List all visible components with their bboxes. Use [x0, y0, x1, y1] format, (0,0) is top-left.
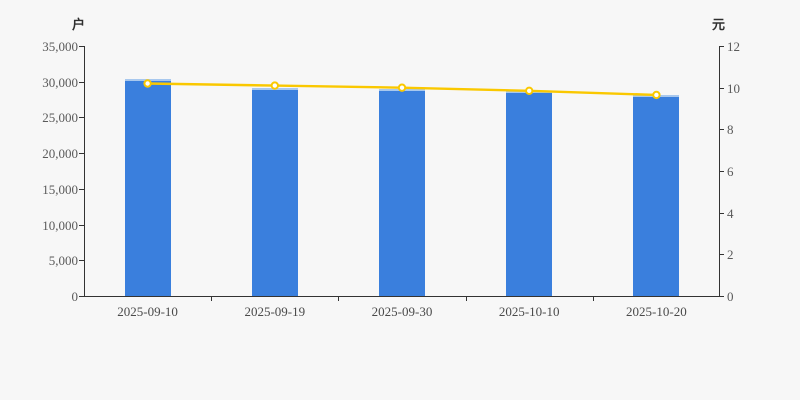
bar-cap	[506, 91, 552, 93]
right-tick-label: 0	[727, 290, 734, 303]
left-tick-label: 35,000	[42, 40, 86, 53]
category-label: 2025-09-19	[215, 305, 335, 318]
right-axis-unit-label: 元	[712, 14, 725, 33]
left-axis-unit-label: 户	[72, 14, 85, 33]
right-tick-mark	[719, 88, 724, 89]
plot-area: 05,00010,00015,00020,00025,00030,00035,0…	[84, 46, 720, 296]
left-tick-label: 5,000	[49, 254, 86, 267]
bar-cap	[379, 89, 425, 91]
right-tick-label: 10	[727, 82, 740, 95]
left-tick-label: 0	[72, 290, 87, 303]
category-separator	[211, 296, 212, 301]
right-tick-mark	[719, 129, 724, 130]
right-tick-label: 8	[727, 123, 734, 136]
left-tick-label: 20,000	[42, 147, 86, 160]
bar[interactable]	[252, 90, 298, 296]
right-tick-mark	[719, 171, 724, 172]
left-tick-label: 25,000	[42, 111, 86, 124]
stock-holder-chart: 户 元 05,00010,00015,00020,00025,00030,000…	[0, 0, 800, 400]
left-tick-label: 30,000	[42, 76, 86, 89]
right-tick-label: 12	[727, 40, 740, 53]
right-tick-label: 2	[727, 248, 734, 261]
category-label: 2025-09-30	[342, 305, 462, 318]
left-tick-label: 15,000	[42, 183, 86, 196]
bar-cap	[125, 79, 171, 81]
category-label: 2025-10-10	[469, 305, 589, 318]
category-separator	[593, 296, 594, 301]
right-tick-mark	[719, 213, 724, 214]
x-axis-line	[84, 296, 720, 297]
bar[interactable]	[633, 97, 679, 296]
right-tick-label: 6	[727, 165, 734, 178]
left-tick-label: 10,000	[42, 219, 86, 232]
right-tick-mark	[719, 46, 724, 47]
right-tick-mark	[719, 296, 724, 297]
bar-cap	[633, 95, 679, 97]
right-tick-mark	[719, 254, 724, 255]
right-tick-label: 4	[727, 207, 734, 220]
category-separator	[338, 296, 339, 301]
bar[interactable]	[125, 81, 171, 296]
bar-cap	[252, 88, 298, 90]
bar[interactable]	[379, 91, 425, 296]
category-separator	[466, 296, 467, 301]
bar[interactable]	[506, 93, 552, 296]
category-label: 2025-09-10	[88, 305, 208, 318]
category-label: 2025-10-20	[596, 305, 716, 318]
